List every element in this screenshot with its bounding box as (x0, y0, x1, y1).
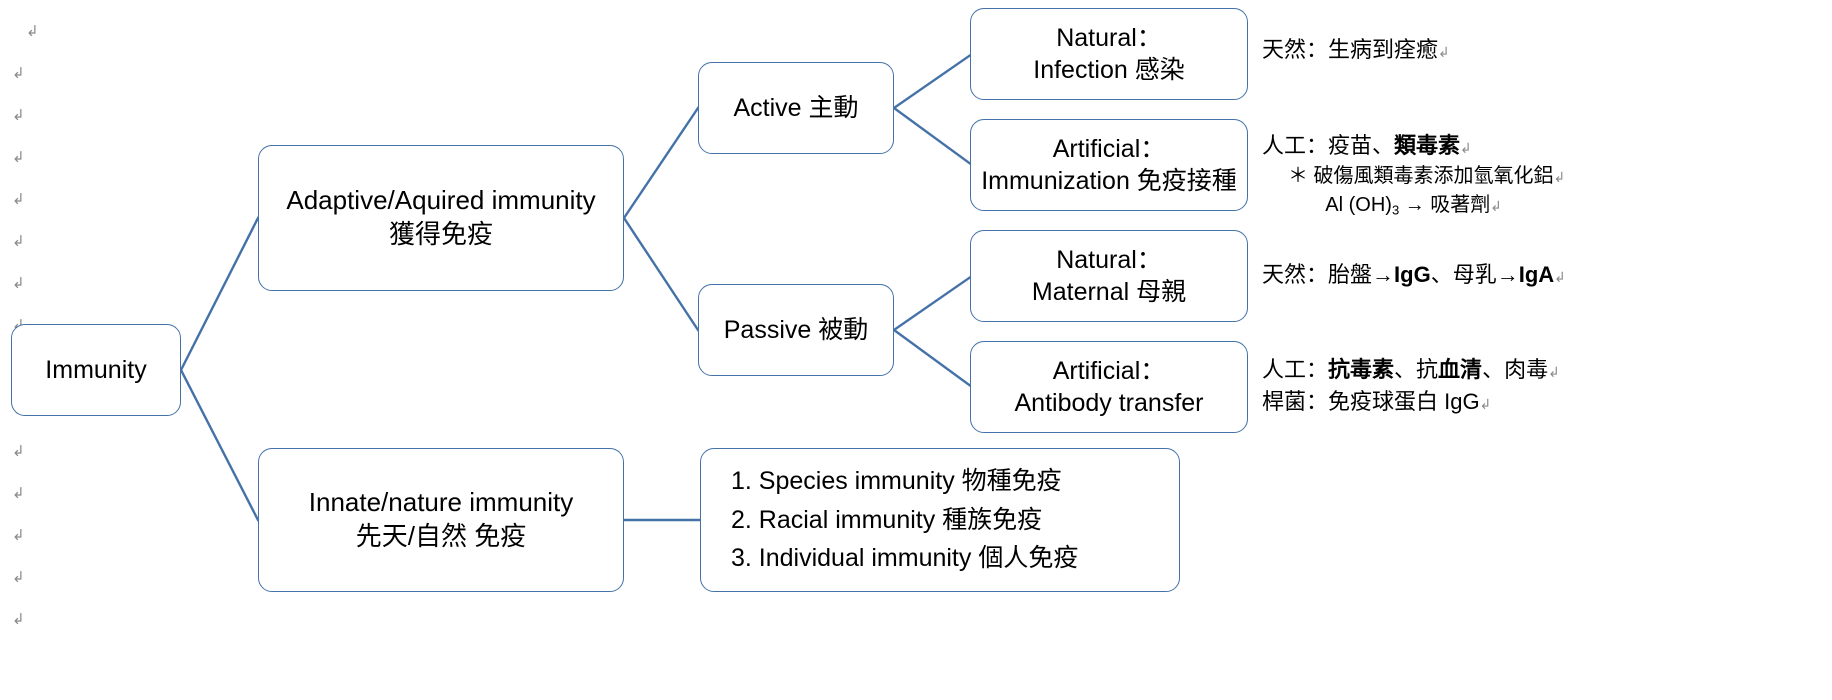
node-passive-artificial-line2: Antibody transfer (1015, 387, 1204, 420)
paragraph-mark-icon: ↲ (12, 444, 25, 459)
word-document-page: ↲ ↲ ↲ ↲ ↲ ↲ ↲ ↲ ↲ ↲ ↲ ↲ ↲ ↲ ↲ (0, 0, 1832, 700)
paragraph-mark-icon: ↲ (12, 528, 25, 543)
list-item: 3. Individual immunity 個人免疫 (731, 539, 1179, 578)
paragraph-mark-icon: ↲ (12, 486, 25, 501)
node-immunity-line1: Immunity (45, 354, 146, 387)
paragraph-mark-icon: ↲ (26, 24, 39, 39)
node-innate-types-list[interactable]: 1. Species immunity 物種免疫 2. Racial immun… (700, 448, 1180, 592)
annotation-line: 天然：生病到痊癒↲ (1262, 34, 1450, 66)
node-active-natural-line2: Infection 感染 (1033, 54, 1184, 87)
paragraph-mark-icon: ↲ (12, 66, 25, 81)
annotation-active-artificial: 人工：疫苗、類毒素↲ ＊ 破傷風類毒素添加氫氧化鋁↲ Al (OH)3 → 吸著… (1262, 130, 1565, 220)
node-adaptive-line1: Adaptive/Aquired immunity (286, 184, 595, 218)
annotation-line: Al (OH)3 → 吸著劑↲ (1262, 191, 1565, 220)
annotation-line: 桿菌：免疫球蛋白 IgG↲ (1262, 386, 1560, 418)
paragraph-mark-icon: ↲ (12, 276, 25, 291)
node-active-artificial-line2: Immunization 免疫接種 (981, 165, 1237, 198)
node-passive-artificial-line1: Artificial： (1053, 355, 1166, 388)
node-active-artificial-line1: Artificial： (1053, 133, 1166, 166)
node-innate-line2: 先天/自然 免疫 (356, 520, 526, 554)
connector-lines (0, 0, 1832, 700)
paragraph-mark-icon: ↲ (12, 612, 25, 627)
node-passive-natural-line2: Maternal 母親 (1032, 276, 1186, 309)
list-item: 2. Racial immunity 種族免疫 (731, 501, 1179, 540)
node-active-natural-line1: Natural： (1056, 22, 1162, 55)
node-innate-line1: Innate/nature immunity (309, 486, 573, 520)
node-passive-natural[interactable]: Natural： Maternal 母親 (970, 230, 1248, 322)
annotation-line: ＊ 破傷風類毒素添加氫氧化鋁↲ (1262, 162, 1565, 191)
node-active-line1: Active 主動 (733, 92, 858, 125)
annotation-passive-artificial: 人工：抗毒素、抗血清、肉毒↲ 桿菌：免疫球蛋白 IgG↲ (1262, 354, 1560, 418)
annotation-line: 人工：疫苗、類毒素↲ (1262, 130, 1565, 162)
node-immunity[interactable]: Immunity (11, 324, 181, 416)
node-passive[interactable]: Passive 被動 (698, 284, 894, 376)
annotation-line: 人工：抗毒素、抗血清、肉毒↲ (1262, 354, 1560, 386)
node-adaptive-immunity[interactable]: Adaptive/Aquired immunity 獲得免疫 (258, 145, 624, 291)
node-passive-artificial[interactable]: Artificial： Antibody transfer (970, 341, 1248, 433)
paragraph-mark-icon: ↲ (12, 570, 25, 585)
paragraph-mark-icon: ↲ (12, 150, 25, 165)
node-passive-line1: Passive 被動 (724, 314, 868, 347)
annotation-passive-natural: 天然：胎盤→IgG、母乳→IgA↲ (1262, 259, 1566, 291)
annotation-active-natural: 天然：生病到痊癒↲ (1262, 34, 1450, 66)
paragraph-mark-icon: ↲ (12, 234, 25, 249)
node-innate-immunity[interactable]: Innate/nature immunity 先天/自然 免疫 (258, 448, 624, 592)
paragraph-mark-icon: ↲ (12, 192, 25, 207)
paragraph-mark-icon: ↲ (12, 108, 25, 123)
node-adaptive-line2: 獲得免疫 (389, 218, 493, 252)
list-item: 1. Species immunity 物種免疫 (731, 462, 1179, 501)
annotation-line: 天然：胎盤→IgG、母乳→IgA↲ (1262, 259, 1566, 291)
node-active-natural[interactable]: Natural： Infection 感染 (970, 8, 1248, 100)
node-active-artificial[interactable]: Artificial： Immunization 免疫接種 (970, 119, 1248, 211)
node-active[interactable]: Active 主動 (698, 62, 894, 154)
node-passive-natural-line1: Natural： (1056, 244, 1162, 277)
